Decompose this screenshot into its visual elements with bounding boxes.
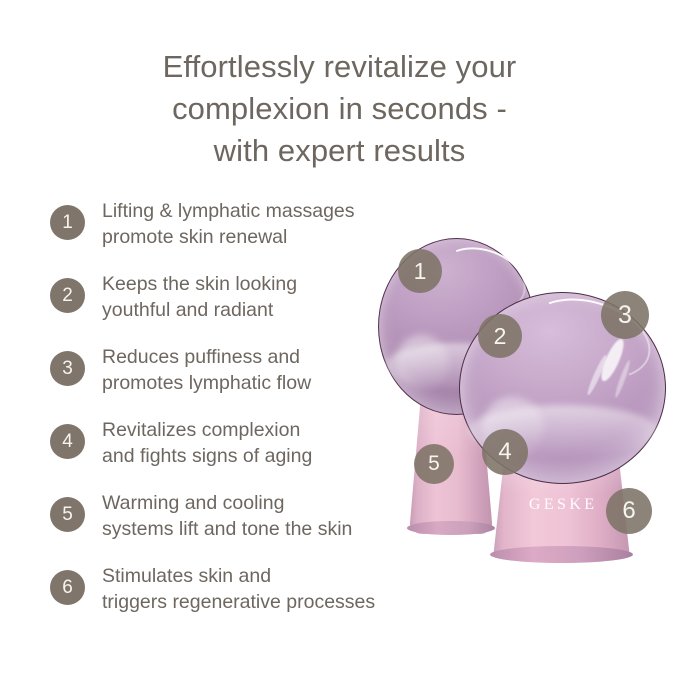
callout-badge-4: 4 bbox=[482, 429, 528, 475]
list-item: 5 Warming and cooling systems lift and t… bbox=[50, 490, 430, 542]
list-badge-2: 2 bbox=[50, 278, 85, 313]
callout-badge-5: 5 bbox=[414, 444, 454, 484]
list-badge-5: 5 bbox=[50, 497, 85, 532]
list-item: 4 Revitalizes complexion and fights sign… bbox=[50, 417, 430, 469]
callout-badge-1: 1 bbox=[398, 249, 442, 293]
list-item: 1 Lifting & lymphatic massages promote s… bbox=[50, 198, 430, 250]
product-image: GESKE 1 2 3 4 5 6 bbox=[378, 238, 679, 568]
list-badge-6: 6 bbox=[50, 570, 85, 605]
page-title: Effortlessly revitalize your complexion … bbox=[0, 46, 679, 172]
callout-badge-6: 6 bbox=[606, 488, 652, 534]
list-item-line: Lifting & lymphatic massages bbox=[102, 198, 430, 224]
front-device-base-rim bbox=[490, 546, 633, 563]
headline-line-3: with expert results bbox=[0, 130, 679, 172]
callout-badge-2: 2 bbox=[478, 314, 522, 358]
rear-sphere-gloss bbox=[395, 335, 449, 391]
list-item: 6 Stimulates skin and triggers regenerat… bbox=[50, 563, 430, 615]
list-badge-1: 1 bbox=[50, 205, 85, 240]
list-badge-4: 4 bbox=[50, 424, 85, 459]
benefit-list: 1 Lifting & lymphatic massages promote s… bbox=[50, 198, 430, 615]
infographic-page: Effortlessly revitalize your complexion … bbox=[0, 0, 679, 679]
list-item: 2 Keeps the skin looking youthful and ra… bbox=[50, 271, 430, 323]
list-item-text: Stimulates skin and triggers regenerativ… bbox=[102, 563, 430, 615]
list-item-line: triggers regenerative processes bbox=[102, 589, 430, 615]
list-item: 3 Reduces puffiness and promotes lymphat… bbox=[50, 344, 430, 396]
callout-badge-3: 3 bbox=[601, 291, 649, 339]
headline-line-1: Effortlessly revitalize your bbox=[0, 46, 679, 88]
headline-line-2: complexion in seconds - bbox=[0, 88, 679, 130]
list-badge-3: 3 bbox=[50, 351, 85, 386]
